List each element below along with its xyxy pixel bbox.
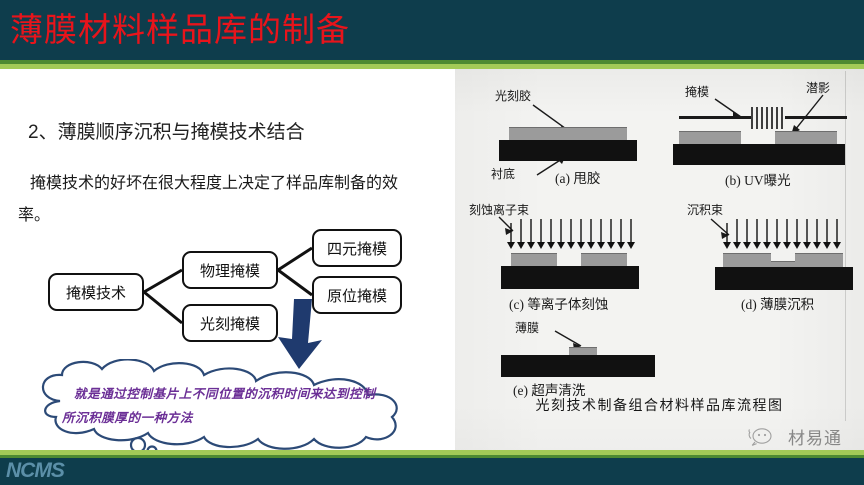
panel-c-caption: (c) 等离子体刻蚀 [509,293,608,313]
mask-technology-flow-diagram: 掩模技术 物理掩模 光刻掩模 四元掩模 原位掩模 [30,229,430,354]
panel-c-resist-left [511,253,557,267]
panel-e-ultrasonic-cleaning: 薄膜 (e) 超声清洗 [485,319,685,399]
flow-node-label: 光刻掩模 [200,313,260,334]
panel-c-resist-right [581,253,627,267]
wechat-logo-icon [748,426,782,448]
panel-b-uv-exposure: 掩模 潜影 [663,79,858,189]
flow-node-physical-mask[interactable]: 物理掩模 [182,251,278,289]
panel-b-resist-right [775,131,837,145]
body-text-line-2: 率。 [18,201,50,225]
flow-node-label: 四元掩模 [327,238,387,259]
panel-b-uv-beam-icon [749,107,789,129]
panel-a-spin-coating: 光刻胶 衬底 (a) 甩胶 [485,79,665,189]
panel-c-plasma-etching: 刻蚀离子束 [469,197,669,317]
flow-node-photolithography-mask[interactable]: 光刻掩模 [182,304,278,342]
panel-d-substrate-layer [715,267,853,290]
left-content-pane: 2、薄膜顺序沉积与掩模技术结合 掩模技术的好坏在很大程度上决定了样品库制备的效 … [0,69,452,450]
process-flow-figure: 光刻胶 衬底 (a) 甩胶 掩模 潜影 [455,69,864,450]
figure-caption: 光刻技术制备组合材料样品库流程图 [455,395,864,415]
panel-d-film-deposition: 沉积束 [667,197,862,317]
panel-b-mask-bar-left [679,116,751,119]
ncms-logo: NCMS [6,459,64,483]
slide-canvas: 薄膜材料样品库的制备 2、薄膜顺序沉积与掩模技术结合 掩模技术的好坏在很大程度上… [0,0,864,485]
flow-node-mask-technology[interactable]: 掩模技术 [48,273,144,311]
cloud-callout: 就是通过控制基片上不同位置的沉积时间来达到控制 所沉积膜厚的一种方法 [18,359,438,454]
panel-d-resist-right [795,253,843,267]
panel-e-substrate-layer [501,355,655,377]
watermark: 材易通 [748,424,842,449]
flow-node-label: 掩模技术 [66,282,126,303]
flow-node-label: 物理掩模 [200,260,260,281]
panel-b-mask-bar-right [785,116,847,119]
body-text-line-1: 掩模技术的好坏在很大程度上决定了样品库制备的效 [30,169,398,193]
panel-b-caption: (b) UV曝光 [725,169,791,189]
watermark-text: 材易通 [788,424,842,449]
slide-footer-bar [0,458,864,485]
panel-a-resist-layer [509,127,627,141]
cloud-callout-line-2: 所沉积膜厚的一种方法 [62,407,193,426]
panel-c-substrate-layer [501,266,639,289]
panel-d-caption: (d) 薄膜沉积 [741,293,814,313]
panel-a-caption: (a) 甩胶 [555,167,600,187]
panel-a-substrate-layer [499,140,637,161]
panel-b-substrate-layer [673,144,845,165]
section-heading: 2、薄膜顺序沉积与掩模技术结合 [28,117,305,144]
cloud-callout-line-1: 就是通过控制基片上不同位置的沉积时间来达到控制 [74,383,375,402]
flow-node-quaternary-mask[interactable]: 四元掩模 [312,229,402,267]
panel-d-resist-left [723,253,771,267]
panel-b-resist-left [679,131,741,145]
label-substrate: 衬底 [491,165,515,182]
page-title: 薄膜材料样品库的制备 [10,8,350,52]
